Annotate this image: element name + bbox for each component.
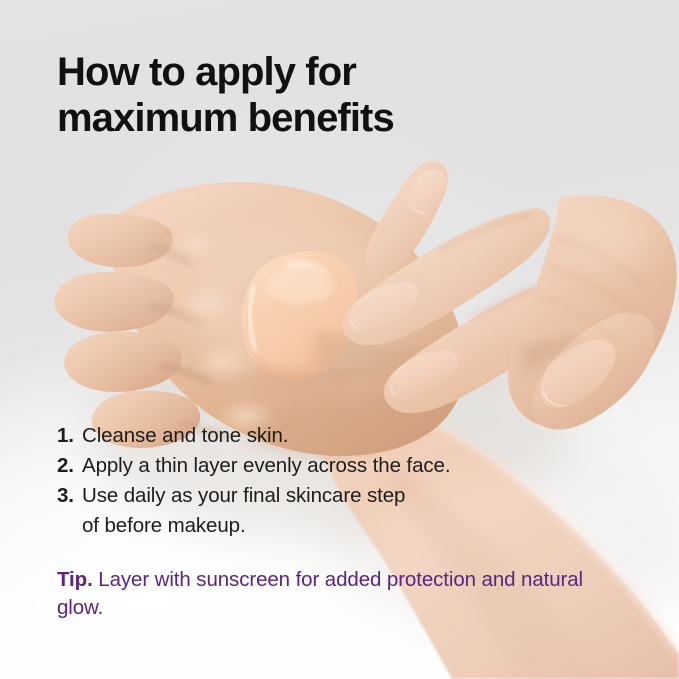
tip-callout: Tip. Layer with sunscreen for added prot… [57, 566, 597, 622]
tip-label: Tip. [57, 568, 93, 591]
page-title: How to apply for maximum benefits [57, 50, 527, 141]
list-item: 1. Cleanse and tone skin. [57, 421, 577, 451]
step-number: 1. [57, 421, 82, 451]
step-number: 3. [57, 481, 82, 511]
list-item: 2. Apply a thin layer evenly across the … [57, 451, 577, 481]
step-text: Use daily as your final skincare step of… [82, 481, 405, 541]
step-text: Apply a thin layer evenly across the fac… [82, 451, 450, 481]
promo-poster: How to apply for maximum benefits 1. Cle… [0, 0, 679, 679]
steps-list: 1. Cleanse and tone skin. 2. Apply a thi… [57, 421, 577, 541]
tip-text: Layer with sunscreen for added protectio… [57, 568, 583, 619]
text-layer: How to apply for maximum benefits 1. Cle… [0, 0, 679, 679]
step-text: Cleanse and tone skin. [82, 421, 288, 451]
step-number: 2. [57, 451, 82, 481]
list-item: 3. Use daily as your final skincare step… [57, 481, 577, 541]
